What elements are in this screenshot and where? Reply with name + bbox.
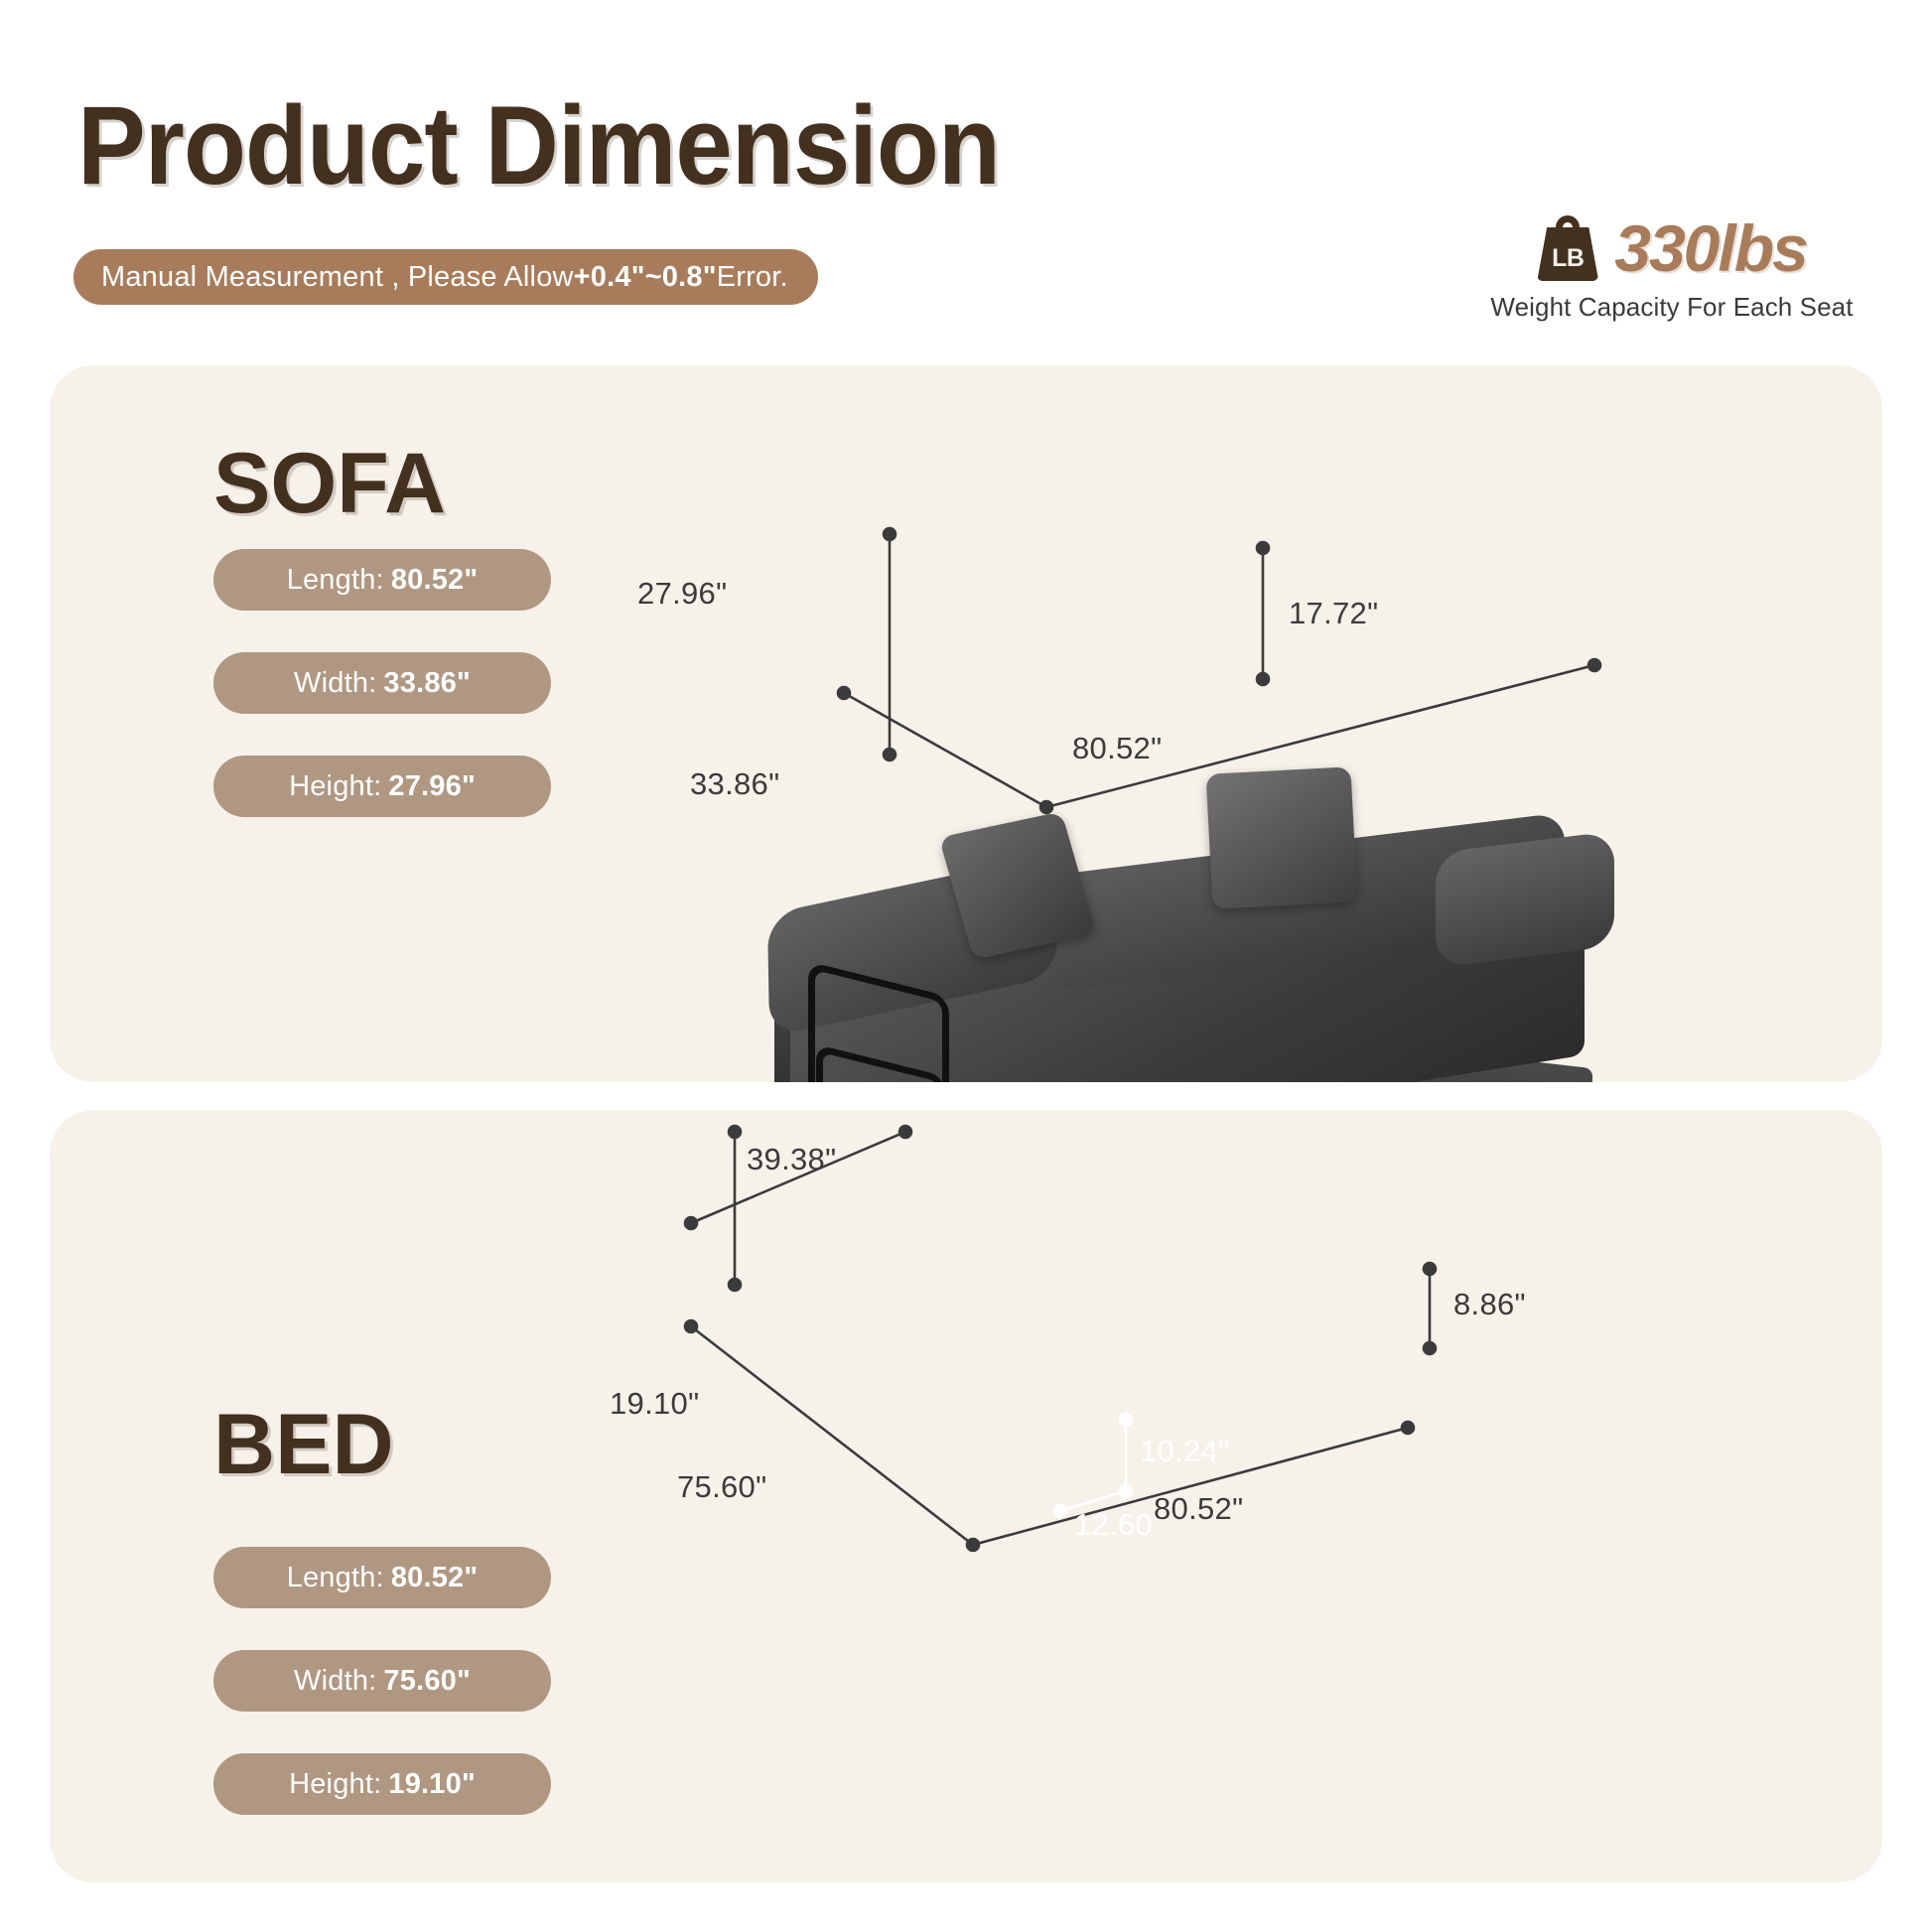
bed-dim-length: 80.52" <box>1154 1491 1243 1527</box>
sofa-spec-width-value: 33.86" <box>383 667 471 700</box>
bed-spec-width: Width:75.60" <box>213 1650 551 1712</box>
sofa-spec-height-value: 27.96" <box>388 770 476 803</box>
weight-capacity-row: LB 330lbs <box>1473 210 1870 286</box>
bed-spec-height: Height:19.10" <box>213 1753 551 1815</box>
sofa-spec-length-value: 80.52" <box>391 564 479 597</box>
bed-dim-width: 75.60" <box>677 1469 766 1505</box>
sofa-right-armrest <box>1436 831 1614 968</box>
weight-capacity-caption: Weight Capacity For Each Seat <box>1473 292 1870 323</box>
measurement-note-prefix: Manual Measurement , Please Allow <box>101 261 574 294</box>
sofa-dim-height-right: 17.72" <box>1289 596 1378 631</box>
page-header: Product Dimension Manual Measurement , P… <box>0 0 1932 365</box>
weight-capacity-badge: LB 330lbs Weight Capacity For Each Seat <box>1473 210 1870 323</box>
sofa-throw-pillow-right <box>1206 766 1358 908</box>
sofa-product-illustration <box>751 762 1664 1082</box>
bed-spec-height-label: Height: <box>289 1768 381 1801</box>
bed-spec-length-label: Length: <box>287 1562 384 1594</box>
bed-spec-length-value: 80.52" <box>391 1562 479 1594</box>
sofa-spec-height: Height:27.96" <box>213 756 551 817</box>
product-dimension-page: Product Dimension Manual Measurement , P… <box>0 0 1932 1932</box>
sofa-section-card: SOFA Length:80.52" Width:33.86" Height:2… <box>50 365 1882 1082</box>
sofa-section-title: SOFA <box>213 435 446 533</box>
weight-capacity-value: 330lbs <box>1614 210 1806 286</box>
sofa-spec-width-label: Width: <box>294 667 376 700</box>
page-title: Product Dimension <box>77 81 1000 209</box>
measurement-note-pill: Manual Measurement , Please Allow +0.4"~… <box>73 249 818 305</box>
sofa-spec-height-label: Height: <box>289 770 381 803</box>
sofa-dim-depth: 33.86" <box>690 766 779 802</box>
bed-dim-height-left: 19.10" <box>610 1386 699 1422</box>
bed-dim-armrest-depth: 12.60" <box>1074 1507 1164 1543</box>
sofa-dim-length: 80.52" <box>1072 731 1162 766</box>
bed-section-title: BED <box>213 1396 394 1494</box>
bed-dim-arm-width: 39.38" <box>747 1142 836 1177</box>
bed-spec-height-value: 19.10" <box>388 1768 476 1801</box>
bed-dim-height-right: 8.86" <box>1453 1287 1526 1322</box>
bed-dim-armrest-height: 10.24" <box>1140 1434 1229 1469</box>
weight-icon: LB <box>1537 215 1598 281</box>
sofa-dim-height-left: 27.96" <box>637 576 727 612</box>
sofa-spec-length: Length:80.52" <box>213 549 551 611</box>
measurement-note-tolerance: +0.4"~0.8" <box>574 261 717 294</box>
measurement-note-suffix: Error. <box>717 261 788 294</box>
sofa-spec-width: Width:33.86" <box>213 652 551 714</box>
bed-spec-length: Length:80.52" <box>213 1547 551 1608</box>
weight-icon-label: LB <box>1537 244 1598 273</box>
bed-section-card: BED Length:80.52" Width:75.60" Height:19… <box>50 1110 1882 1882</box>
sofa-spec-length-label: Length: <box>287 564 384 597</box>
bed-spec-width-value: 75.60" <box>383 1665 471 1698</box>
bed-spec-width-label: Width: <box>294 1665 376 1698</box>
